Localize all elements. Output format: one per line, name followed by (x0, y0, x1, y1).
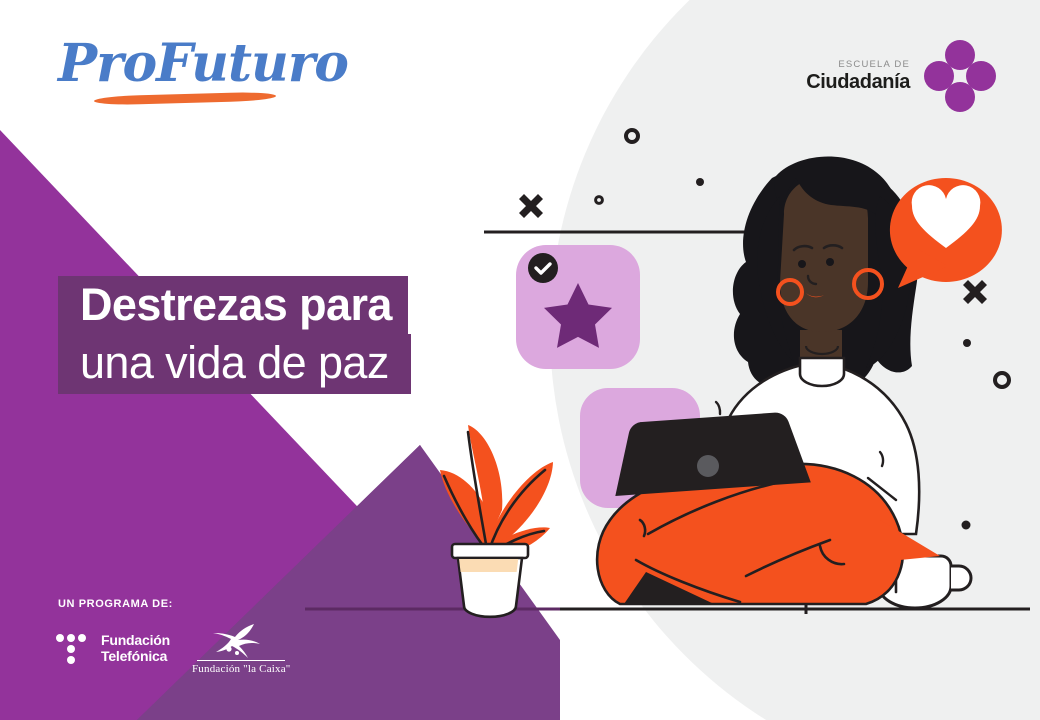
programa-label: UN PROGRAMA DE: (58, 598, 173, 610)
caixa-star-icon (210, 622, 272, 658)
escuela-text: ESCUELA DE Ciudadanía (806, 60, 910, 93)
telefonica-line1: Fundación (101, 633, 170, 649)
profuturo-wordmark: ProFuturo (58, 38, 348, 90)
title-line-2: una vida de paz (58, 334, 411, 394)
caixa-label: Fundación "la Caixa" (192, 663, 291, 675)
poster-canvas: ProFuturo ESCUELA DE Ciudadanía Destreza… (0, 0, 1040, 720)
escuela-line2: Ciudadanía (806, 72, 910, 92)
page-title: Destrezas para una vida de paz (58, 276, 411, 394)
fundacion-telefonica-logo: Fundación Telefónica (56, 632, 170, 666)
four-circle-flower-icon (924, 40, 996, 112)
fundacion-lacaixa-logo: Fundación "la Caixa" (192, 622, 291, 675)
escuela-ciudadania-logo: ESCUELA DE Ciudadanía (806, 40, 996, 112)
telefonica-dots-icon (56, 632, 90, 666)
sponsor-logos: Fundación Telefónica Fundación "la Caixa… (56, 622, 291, 675)
telefonica-label: Fundación Telefónica (101, 633, 170, 664)
telefonica-line2: Telefónica (101, 649, 170, 665)
profuturo-logo: ProFuturo (58, 38, 348, 90)
title-line-1: Destrezas para (58, 276, 408, 336)
caixa-divider (197, 660, 285, 661)
escuela-line1: ESCUELA DE (806, 60, 910, 70)
check-badge (528, 253, 558, 283)
